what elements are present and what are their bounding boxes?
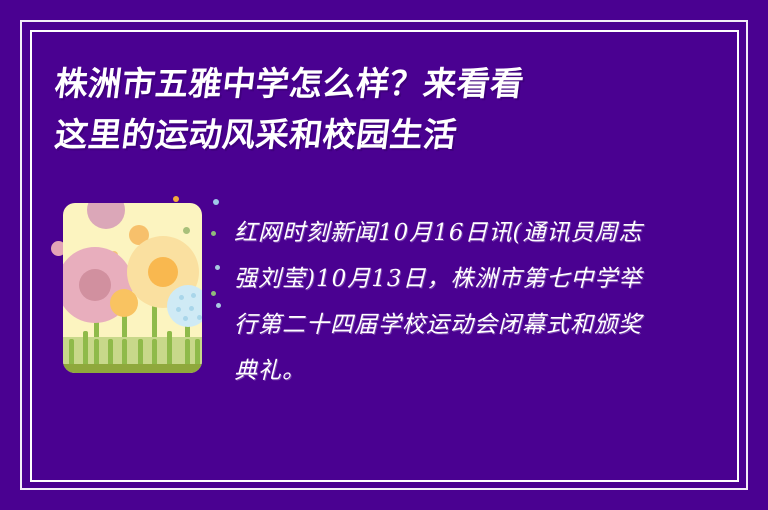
orange-flower-small [110,289,138,317]
blue-flower-dot-5 [197,315,202,320]
speck-dot-blue-right-lower [216,303,221,308]
headline-line-1: 株洲市五雅中学怎么样？来看看 [52,58,698,109]
pink-flower-small-top [87,203,125,229]
pink-flower-large-center [79,269,111,301]
speck-dot-blue-right-mid [215,265,220,270]
body-paragraph: 红网时刻新闻10月16日讯(通讯员周志强刘莹)10月13日，株洲市第七中学举行第… [234,210,654,394]
speck-dot-green-right [211,231,216,236]
grass-blade [152,339,157,365]
grass-blade [122,339,127,365]
grass-blade [167,331,172,365]
grass-blade [108,339,113,365]
blue-flower-dot-6 [183,316,188,321]
speck-circle-green-in [183,227,190,234]
ground-bar [63,364,202,373]
grass-blade [138,339,143,365]
grass-blade [195,339,200,365]
orange-flower-large-center [148,257,178,287]
speck-dot-blue-topright [213,199,219,205]
headline-line-2: 这里的运动风采和校园生活 [52,109,698,160]
grass-blade [185,339,190,365]
grass-blade [83,331,88,365]
speck-dot-green-right-low [211,291,216,296]
speck-dot-orange-top [173,196,179,202]
blue-flower-dot-1 [179,295,184,300]
page-title: 株洲市五雅中学怎么样？来看看 这里的运动风采和校园生活 [55,58,695,160]
blue-flower-dot-2 [191,293,196,298]
blue-flower-dot-3 [176,307,181,312]
blue-flower-dot-4 [189,306,194,311]
poster-canvas: 株洲市五雅中学怎么样？来看看 这里的运动风采和校园生活 [0,0,768,510]
grass-blade [94,339,99,365]
grass-blade [69,339,74,365]
flower-garden-illustration [63,203,202,373]
illustration-card [63,203,202,373]
